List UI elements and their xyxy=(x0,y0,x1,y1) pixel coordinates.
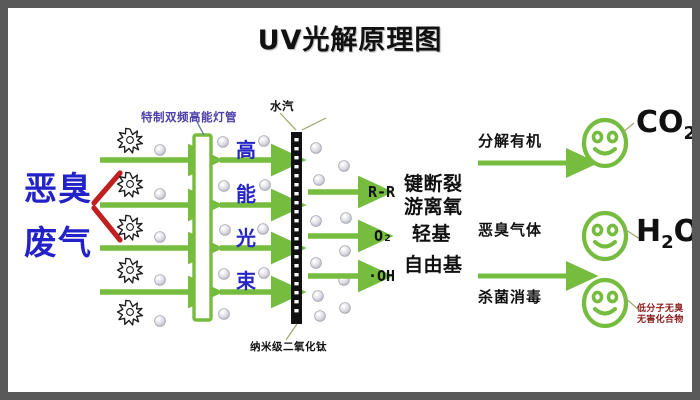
product-formula-co2: CO2 xyxy=(636,105,692,144)
radical-formula-1: R-R xyxy=(368,183,395,201)
input-label-line1: 恶臭 xyxy=(18,172,98,207)
tio2-label: 纳米级二氧化钛 xyxy=(250,339,327,354)
co2-sub: 2 xyxy=(684,123,692,144)
final-caption-line2: 无害化合物 xyxy=(637,315,684,326)
reaction-label-2: 恶臭气体 xyxy=(478,219,542,240)
water-vapor-label: 水汽 xyxy=(270,98,294,114)
co2-main: CO xyxy=(636,105,684,140)
radical-formula-2: O₂ xyxy=(374,227,392,245)
final-caption: 低分子无臭 无害化合物 xyxy=(637,304,684,327)
image-frame: UV光解原理图 xyxy=(0,0,700,400)
beam-char-1: 高 xyxy=(236,134,256,163)
h2o-tail: O xyxy=(674,214,692,249)
smiley-face-icon-group xyxy=(584,120,626,326)
radical-desc-1: 键断裂 xyxy=(404,174,463,195)
reaction-label-1: 分解有机 xyxy=(478,130,542,151)
water-droplet-icon-group-right xyxy=(311,143,352,322)
input-label-line2: 废气 xyxy=(18,226,98,261)
tio2-leader-line xyxy=(286,324,297,340)
lamp-tube-icon xyxy=(194,120,211,320)
water-vapor-leader-line xyxy=(280,113,326,130)
tio2-plate-icon xyxy=(291,132,302,324)
water-droplet-icon-group-left xyxy=(155,145,166,327)
reaction-label-3: 杀菌消毒 xyxy=(478,286,542,307)
beam-char-2: 能 xyxy=(236,178,256,207)
process-flow-diagram xyxy=(8,8,692,392)
radical-desc-2: 游离氧 xyxy=(404,197,463,218)
diagram-canvas: UV光解原理图 xyxy=(8,8,692,392)
h2o-main: H xyxy=(636,214,661,249)
h2o-sub: 2 xyxy=(661,232,674,253)
lamp-callout-label: 特制双频高能灯管 xyxy=(141,109,237,125)
product-formula-h2o: H2O xyxy=(636,214,692,253)
beam-char-4: 束 xyxy=(236,265,256,294)
radical-desc-4: 自由基 xyxy=(404,255,463,276)
beam-char-3: 光 xyxy=(236,222,256,251)
radical-formula-3: ·OH xyxy=(368,267,395,285)
radical-desc-3: 轻基 xyxy=(412,224,451,245)
final-caption-line1: 低分子无臭 xyxy=(637,304,684,315)
